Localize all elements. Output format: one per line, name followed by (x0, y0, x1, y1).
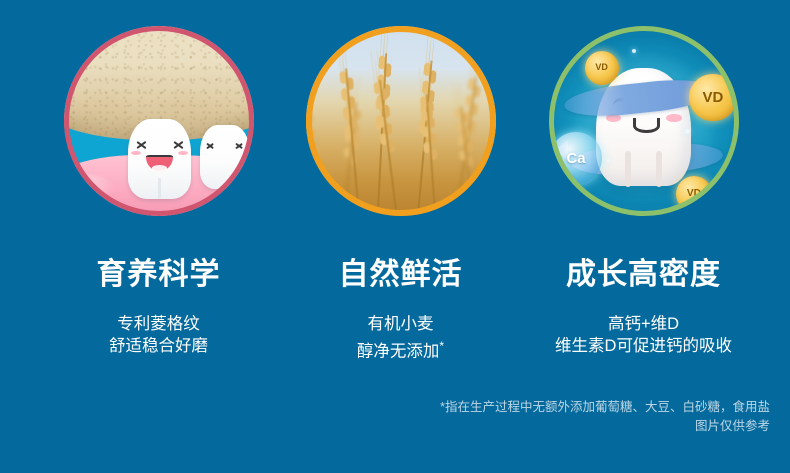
eye-closed-icon (136, 141, 147, 147)
smiling-mouth-icon (146, 155, 174, 172)
feature-heading: 育养科学 (27, 258, 290, 292)
feature-subtext-line1: 高钙+维D (512, 313, 775, 335)
eye-closed-icon (235, 143, 243, 148)
vitamin-d-badge: VD (689, 74, 737, 122)
feature-image-tooth-nutrients: 助力钙吸收 VD VD VD Ca (549, 26, 739, 216)
blush-icon (666, 114, 681, 122)
footnote-line2: 图片仅供参考 (440, 417, 770, 436)
vitamin-d-badge: VD (676, 176, 712, 212)
tooth-face (128, 140, 191, 177)
smiling-mouth-icon (633, 118, 660, 133)
blush-icon (131, 151, 141, 155)
feature-subtext-line2: 舒适稳合好磨 (27, 335, 290, 357)
feature-subtext: 有机小麦 醇净无添加* (269, 313, 532, 363)
feature-heading: 成长高密度 (512, 258, 775, 292)
feature-subtext: 高钙+维D 维生素D可促进钙的吸收 (512, 313, 775, 357)
footnote-line1: *指在生产过程中无额外添加葡萄糖、大豆、白砂糖，食用盐 (440, 398, 770, 417)
feature-heading: 自然鲜活 (269, 258, 532, 292)
feature-subtext-line2: 维生素D可促进钙的吸收 (512, 335, 775, 357)
feature-subtext: 专利菱格纹 舒适稳合好磨 (27, 313, 290, 357)
feature-image-wheat-field (306, 26, 496, 216)
tooth-secondary-icon (200, 125, 249, 190)
eye-closed-icon (206, 143, 214, 148)
feature-image-biscuit-teeth (64, 26, 254, 216)
vitamin-d-badge: VD (585, 51, 619, 85)
tooth-face (200, 142, 249, 172)
feature-column-nurturing-science: 育养科学 专利菱格纹 舒适稳合好磨 (27, 0, 290, 473)
sparkle-icon (632, 49, 636, 53)
calcium-badge: Ca (550, 132, 601, 183)
sparkle-icon (685, 129, 690, 134)
feature-subtext-line1: 专利菱格纹 (27, 313, 290, 335)
footnote: *指在生产过程中无额外添加葡萄糖、大豆、白砂糖，食用盐 图片仅供参考 (440, 398, 770, 436)
blush-icon (178, 151, 188, 155)
feature-subtext-line2-wrap: 醇净无添加* (269, 335, 532, 363)
eye-closed-icon (173, 141, 184, 147)
tooth-primary-icon (128, 119, 191, 199)
promo-banner: 育养科学 专利菱格纹 舒适稳合好磨 (0, 0, 790, 473)
feature-subtext-line2: 醇净无添加 (357, 343, 440, 361)
footnote-marker: * (439, 339, 444, 353)
feature-subtext-line1: 有机小麦 (269, 313, 532, 335)
